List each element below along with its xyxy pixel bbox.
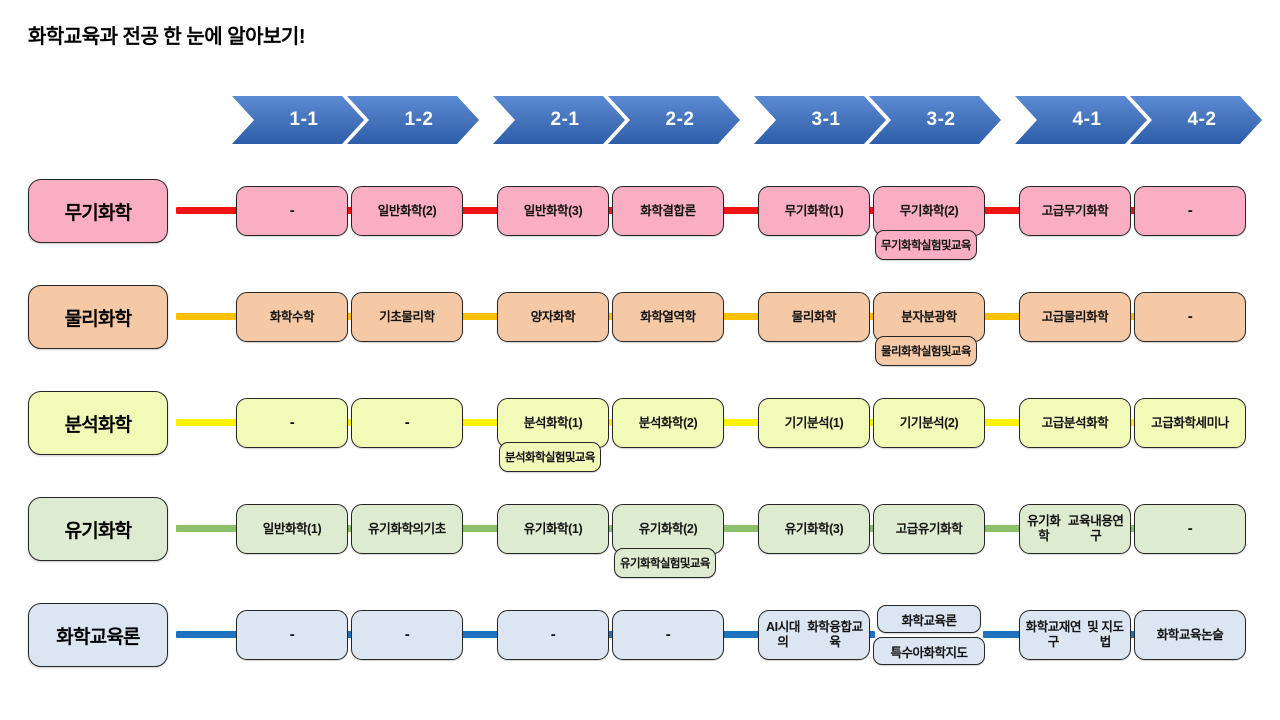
course-cell-inorganic-1-2[interactable]: 일반화학(2) (351, 186, 463, 236)
curriculum-roadmap-page: 화학교육과 전공 한 눈에 알아보기! 1-11-22-12-23-13-24-… (0, 0, 1280, 720)
course-cell-education-3-2-2[interactable]: 특수아화학지도 (873, 637, 985, 665)
connector-line-analytical-0 (176, 419, 238, 426)
course-cell-organic-2-2[interactable]: 유기화학(2) (612, 504, 724, 554)
semester-chevron-3-2: 3-2 (869, 96, 1001, 144)
course-cell-organic-1-2[interactable]: 유기화학의기초 (351, 504, 463, 554)
course-cell-inorganic-2-1[interactable]: 일반화학(3) (497, 186, 609, 236)
connector-line-organic-2 (461, 525, 499, 532)
connector-line-physical-4 (722, 313, 760, 320)
connector-line-inorganic-2 (461, 207, 499, 214)
course-cell-physical-3-1[interactable]: 물리화학 (758, 292, 870, 342)
course-cell-organic-1-1[interactable]: 일반화학(1) (236, 504, 348, 554)
course-cell-analytical-2-2[interactable]: 분석화학(2) (612, 398, 724, 448)
course-cell-physical-2-1[interactable]: 양자화학 (497, 292, 609, 342)
course-cell-analytical-2-1[interactable]: 분석화학(1) (497, 398, 609, 448)
connector-line-inorganic-0 (176, 207, 238, 214)
course-cell-education-3-2-1[interactable]: 화학교육론 (877, 605, 981, 633)
course-cell-analytical-4-1[interactable]: 고급분석화학 (1019, 398, 1131, 448)
track-row-analytical: 분석화학--분석화학(1)분석화학실험및교육분석화학(2)기기분석(1)기기분석… (0, 378, 1280, 484)
course-cell-education-2-1[interactable]: - (497, 610, 609, 660)
lab-course-cell-analytical-2-1[interactable]: 분석화학실험및교육 (499, 442, 601, 472)
course-cell-organic-4-1[interactable]: 유기화학교육내용연구 (1019, 504, 1131, 554)
track-row-inorganic: 무기화학-일반화학(2)일반화학(3)화학결합론무기화학(1)무기화학(2)무기… (0, 166, 1280, 272)
course-cell-organic-2-1[interactable]: 유기화학(1) (497, 504, 609, 554)
course-cell-analytical-1-2[interactable]: - (351, 398, 463, 448)
course-cell-organic-4-2[interactable]: - (1134, 504, 1246, 554)
row-label-physical: 물리화학 (28, 285, 168, 349)
semester-chevron-1-2: 1-2 (347, 96, 479, 144)
course-cell-inorganic-1-1[interactable]: - (236, 186, 348, 236)
page-title: 화학교육과 전공 한 눈에 알아보기! (28, 20, 305, 49)
row-label-analytical: 분석화학 (28, 391, 168, 455)
course-cell-inorganic-3-1[interactable]: 무기화학(1) (758, 186, 870, 236)
connector-line-physical-2 (461, 313, 499, 320)
course-cell-physical-2-2[interactable]: 화학열역학 (612, 292, 724, 342)
course-cell-education-4-1[interactable]: 화학교재연구및 지도법 (1019, 610, 1131, 660)
course-cell-education-2-2[interactable]: - (612, 610, 724, 660)
semester-chevron-4-2: 4-2 (1130, 96, 1262, 144)
semester-chevron-2-2: 2-2 (608, 96, 740, 144)
semester-chevron-4-1: 4-1 (1015, 96, 1147, 144)
course-cell-analytical-4-2[interactable]: 고급화학세미나 (1134, 398, 1246, 448)
course-cell-inorganic-4-1[interactable]: 고급무기화학 (1019, 186, 1131, 236)
course-cell-analytical-3-2[interactable]: 기기분석(2) (873, 398, 985, 448)
course-cell-education-1-1[interactable]: - (236, 610, 348, 660)
connector-line-analytical-6 (983, 419, 1021, 426)
lab-course-cell-inorganic-3-2[interactable]: 무기화학실험및교육 (875, 230, 977, 260)
course-cell-organic-3-2[interactable]: 고급유기화학 (873, 504, 985, 554)
connector-line-organic-6 (983, 525, 1021, 532)
semester-chevron-3-1: 3-1 (754, 96, 886, 144)
course-cell-physical-3-2[interactable]: 분자분광학 (873, 292, 985, 342)
semester-header-row: 1-11-22-12-23-13-24-14-2 (0, 96, 1280, 144)
course-cell-inorganic-4-2[interactable]: - (1134, 186, 1246, 236)
connector-line-analytical-4 (722, 419, 760, 426)
connector-line-analytical-2 (461, 419, 499, 426)
row-label-education: 화학교육론 (28, 603, 168, 667)
course-cell-analytical-3-1[interactable]: 기기분석(1) (758, 398, 870, 448)
track-row-physical: 물리화학화학수학기초물리학양자화학화학열역학물리화학분자분광학물리화학실험및교육… (0, 272, 1280, 378)
row-label-organic: 유기화학 (28, 497, 168, 561)
course-cell-education-3-1[interactable]: AI시대의화학융합교육 (758, 610, 870, 660)
course-cell-physical-4-2[interactable]: - (1134, 292, 1246, 342)
semester-chevron-2-1: 2-1 (493, 96, 625, 144)
track-row-organic: 유기화학일반화학(1)유기화학의기초유기화학(1)유기화학(2)유기화학실험및교… (0, 484, 1280, 590)
track-row-education: 화학교육론----AI시대의화학융합교육화학교육론특수아화학지도화학교재연구및 … (0, 590, 1280, 696)
course-cell-education-1-2[interactable]: - (351, 610, 463, 660)
lab-course-cell-physical-3-2[interactable]: 물리화학실험및교육 (875, 336, 977, 366)
connector-line-inorganic-6 (983, 207, 1021, 214)
connector-line-physical-6 (983, 313, 1021, 320)
connector-line-organic-4 (722, 525, 760, 532)
connector-line-inorganic-4 (722, 207, 760, 214)
course-cell-inorganic-3-2[interactable]: 무기화학(2) (873, 186, 985, 236)
course-cell-physical-1-1[interactable]: 화학수학 (236, 292, 348, 342)
course-cell-physical-1-2[interactable]: 기초물리학 (351, 292, 463, 342)
course-cell-analytical-1-1[interactable]: - (236, 398, 348, 448)
course-cell-education-4-2[interactable]: 화학교육논술 (1134, 610, 1246, 660)
semester-chevron-1-1: 1-1 (232, 96, 364, 144)
connector-line-education-2 (461, 631, 499, 638)
lab-course-cell-organic-2-2[interactable]: 유기화학실험및교육 (614, 548, 716, 578)
course-cell-organic-3-1[interactable]: 유기화학(3) (758, 504, 870, 554)
course-cell-inorganic-2-2[interactable]: 화학결합론 (612, 186, 724, 236)
connector-line-education-4 (722, 631, 760, 638)
course-cell-physical-4-1[interactable]: 고급물리화학 (1019, 292, 1131, 342)
connector-line-physical-0 (176, 313, 238, 320)
connector-line-education-0 (176, 631, 238, 638)
connector-line-education-6 (983, 631, 1021, 638)
connector-line-organic-0 (176, 525, 238, 532)
row-label-inorganic: 무기화학 (28, 179, 168, 243)
